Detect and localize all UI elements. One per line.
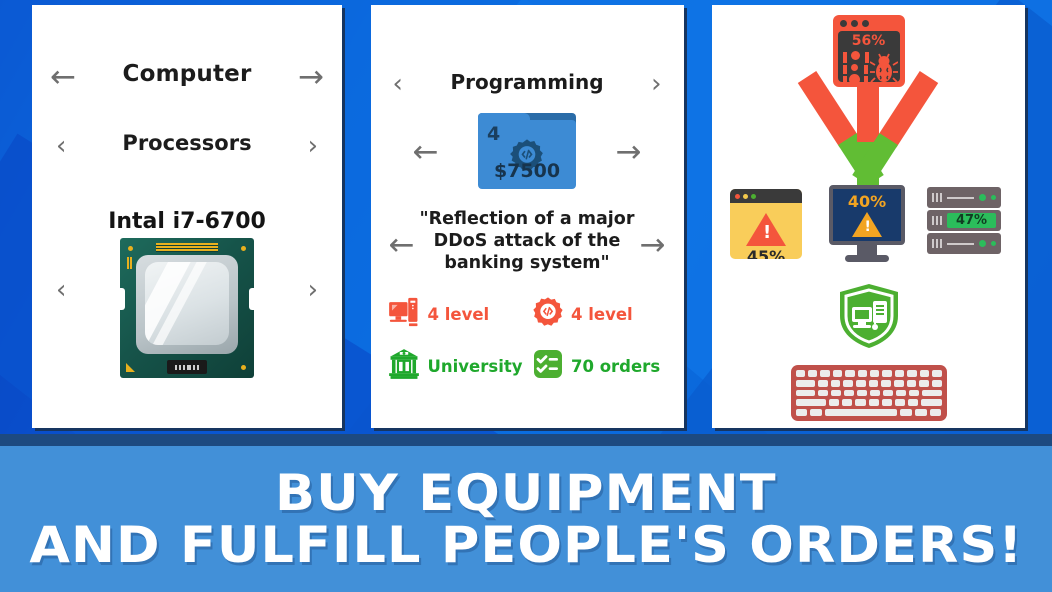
attack-network-diagram: 56% xyxy=(712,5,1025,428)
monitor-warning-icon: 40% xyxy=(829,185,905,262)
server-rack-icon: 47% xyxy=(927,187,1001,256)
computer-card-title: Computer xyxy=(32,61,342,87)
promo-banner-line-2: AND FULFILL PEOPLE'S ORDERS! xyxy=(29,519,1023,571)
stat-required-skill-label: 4 level xyxy=(571,305,633,324)
stat-orders-count-label: 70 orders xyxy=(571,357,660,376)
computer-card-subtitle: Processors xyxy=(32,131,342,155)
desktop-computer-icon xyxy=(387,295,421,333)
university-bank-icon xyxy=(387,347,421,385)
computer-item-prev-arrow[interactable]: ‹ xyxy=(56,277,66,303)
computer-item-model: Intal i7-6700 xyxy=(32,208,342,235)
stat-required-computer: 4 level xyxy=(387,295,529,333)
order-folder-level: 4 xyxy=(487,123,500,145)
keyboard-icon xyxy=(791,365,947,421)
order-quote-text: "Reflection of a major DDoS attack of th… xyxy=(397,208,658,274)
stat-client-university: University xyxy=(387,347,529,385)
cpu-chip-icon xyxy=(120,238,254,378)
target-monitor-percent: 40% xyxy=(833,189,901,211)
checklist-icon xyxy=(532,348,564,384)
code-gear-icon xyxy=(532,296,564,332)
target-server-percent: 47% xyxy=(947,213,996,228)
card-attack: 56% xyxy=(712,5,1025,428)
card-computer: ← → Computer ‹ › Processors Intal i7-670… xyxy=(32,5,342,428)
stat-orders-count: 70 orders xyxy=(532,347,674,385)
malware-percent: 56% xyxy=(838,33,900,49)
order-folder-icon[interactable]: 4 $7500 xyxy=(478,113,576,189)
stat-required-skill: 4 level xyxy=(532,295,674,333)
bug-window-icon: 56% xyxy=(833,15,905,91)
order-folder-price: $7500 xyxy=(478,160,576,182)
browser-warning-icon: 45% xyxy=(730,189,802,259)
screenshot-cards-row: ← → Computer ‹ › Processors Intal i7-670… xyxy=(0,0,1052,434)
stat-required-computer-label: 4 level xyxy=(428,305,490,324)
shield-computer-icon xyxy=(837,283,901,353)
order-card-title: Programming xyxy=(371,70,684,94)
stat-client-university-label: University xyxy=(428,357,523,376)
promo-banner-line-1: BUY EQUIPMENT xyxy=(275,467,777,519)
target-browser-percent: 45% xyxy=(730,247,802,259)
card-order: ‹ › Programming ← → 4 $7500 ← → "Reflect… xyxy=(371,5,684,428)
promo-banner: BUY EQUIPMENT AND FULFILL PEOPLE'S ORDER… xyxy=(0,446,1052,592)
order-stats-grid: 4 level 4 level xyxy=(387,295,674,385)
order-folder-next-arrow[interactable]: → xyxy=(616,137,642,168)
banner-divider-strip xyxy=(0,434,1052,446)
computer-item-next-arrow[interactable]: › xyxy=(308,277,318,303)
order-folder-prev-arrow[interactable]: ← xyxy=(413,137,439,168)
